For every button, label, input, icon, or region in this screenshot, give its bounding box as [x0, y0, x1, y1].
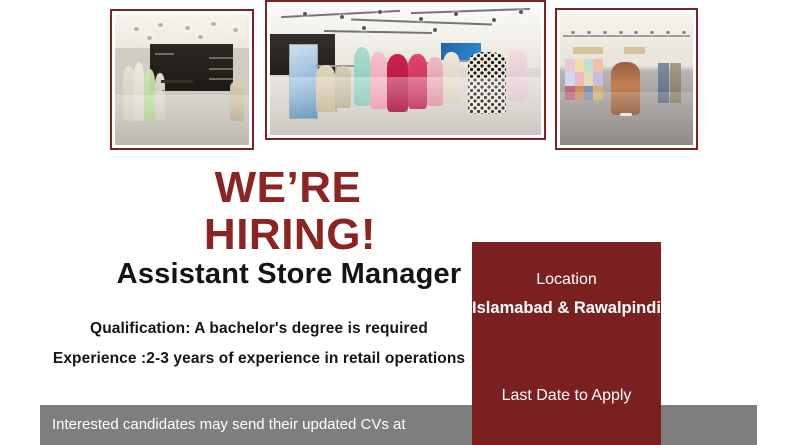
requirements-block: Qualification: A bachelor's degree is re… — [0, 314, 518, 374]
storefront-photo-right-image — [560, 13, 693, 145]
location-label: Location — [472, 270, 661, 289]
hiring-poster: WE’RE HIRING! Assistant Store Manager Qu… — [0, 0, 800, 445]
mall-store-artwork — [270, 5, 541, 135]
requirement-experience: Experience :2-3 years of experience in r… — [0, 344, 518, 374]
storefront-photo-right — [555, 8, 698, 150]
info-panel: Location Islamabad & Rawalpindi Last Dat… — [472, 242, 661, 445]
location-value: Islamabad & Rawalpindi — [472, 298, 661, 318]
storefront-photo-left — [110, 9, 254, 150]
requirement-qualification: Qualification: A bachelor's degree is re… — [0, 314, 518, 344]
storefront-photo-center-image — [270, 5, 541, 135]
shelved-store-artwork — [560, 13, 693, 145]
storefront-photo-left-image — [115, 14, 249, 145]
headline-line-1: WE’RE — [0, 166, 580, 210]
storefront-photo-center — [265, 0, 546, 140]
boutique-interior-artwork — [115, 14, 249, 145]
contact-bar-text: Interested candidates may send their upd… — [52, 416, 406, 434]
deadline-label: Last Date to Apply — [472, 386, 661, 405]
